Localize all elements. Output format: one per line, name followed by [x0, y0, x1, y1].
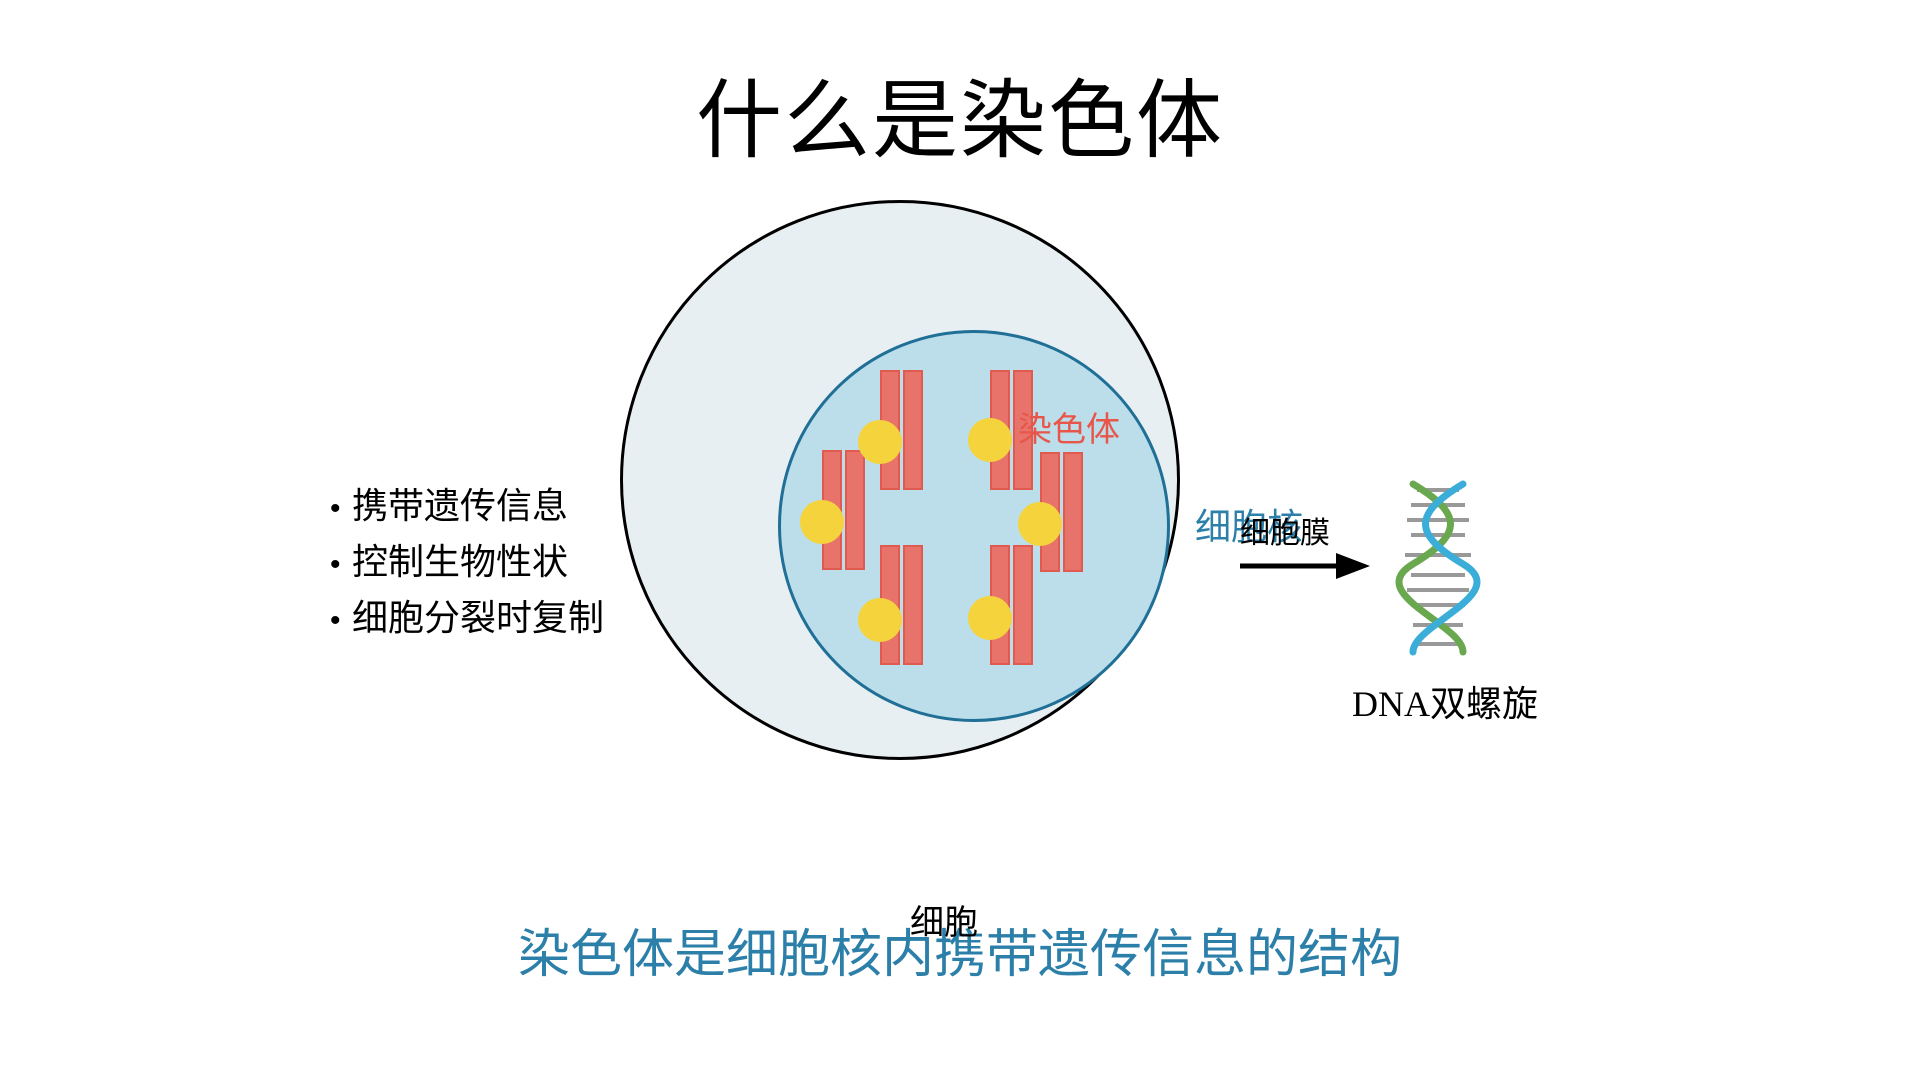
bullet-item: 携带遗传信息	[330, 478, 604, 534]
chromatid	[1013, 545, 1033, 665]
bullet-item: 细胞分裂时复制	[330, 590, 604, 646]
centromere-shape	[800, 500, 844, 544]
chromatid	[903, 370, 923, 490]
centromere-shape	[858, 598, 902, 642]
diagram-canvas: 什么是染色体 染色体 细胞核 细胞膜 携带遗传信息 控制生物性状 细胞分裂时复制	[0, 0, 1920, 1080]
page-title: 什么是染色体	[0, 78, 1920, 164]
feature-bullet-list: 携带遗传信息 控制生物性状 细胞分裂时复制	[330, 478, 604, 645]
chromosome-label: 染色体	[1018, 402, 1120, 451]
bullet-item: 控制生物性状	[330, 534, 604, 590]
centromere-shape	[858, 420, 902, 464]
chromatid	[845, 450, 865, 570]
chromatid	[903, 545, 923, 665]
centromere-shape	[1018, 502, 1062, 546]
flow-arrow-icon	[1240, 546, 1372, 586]
dna-double-helix-icon	[1383, 478, 1493, 658]
centromere-shape	[968, 418, 1012, 462]
dna-label: DNA双螺旋	[1330, 675, 1560, 727]
chromatid	[1063, 452, 1083, 572]
centromere-shape	[968, 596, 1012, 640]
cell-label: 细胞	[910, 895, 978, 944]
